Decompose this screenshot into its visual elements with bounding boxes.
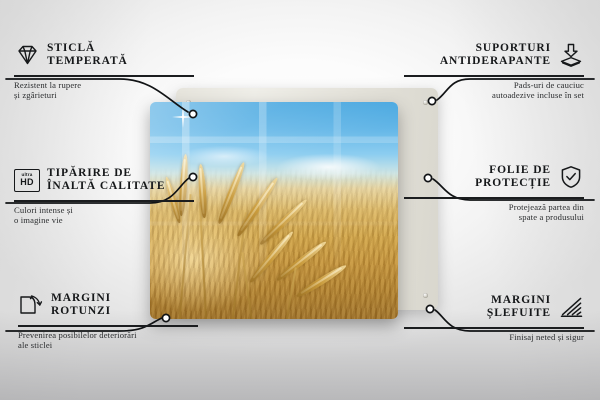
feature-title-line1: STICLĂ	[47, 42, 128, 55]
feature-polished-edges[interactable]: MARGINI ȘLEFUITE Finisaj neted și sigur	[404, 290, 584, 342]
feature-title-line2: ÎNALTĂ CALITATE	[47, 180, 165, 193]
feature-subtitle-line2: ale sticlei	[18, 340, 52, 350]
feature-divider	[14, 75, 194, 77]
feature-subtitle: Protejează partea din spate a produsului	[404, 202, 584, 223]
feature-title-line2: ANTIDERAPANTE	[440, 55, 551, 68]
feature-subtitle: Prevenirea posibilelor deteriorări ale s…	[18, 330, 198, 351]
feature-subtitle-line2: spate a produsului	[519, 212, 584, 222]
feature-anti-slip-supports[interactable]: SUPORTURI ANTIDERAPANTE Pads-uri de cauc…	[404, 38, 584, 101]
feature-subtitle-line1: Rezistent la rupere	[14, 80, 81, 90]
feature-divider	[18, 325, 198, 327]
feature-subtitle: Culori intense și o imagine vie	[14, 205, 194, 226]
feature-subtitle: Rezistent la rupere și zgârieturi	[14, 80, 194, 101]
feature-subtitle-line1: Pads-uri de cauciuc	[514, 80, 584, 90]
feature-title-line1: FOLIE DE	[475, 164, 551, 177]
feature-subtitle-line2: o imagine vie	[14, 215, 63, 225]
feature-title-line1: SUPORTURI	[440, 42, 551, 55]
feature-subtitle-line2: și zgârieturi	[14, 90, 57, 100]
feature-title-line2: ROTUNZI	[51, 305, 111, 318]
feature-title-line2: PROTECȚIE	[475, 177, 551, 190]
feature-title-line2: TEMPERATĂ	[47, 55, 128, 68]
pad-press-icon	[558, 42, 584, 68]
feature-high-quality-print[interactable]: ultra HD TIPĂRIRE DE ÎNALTĂ CALITATE Cul…	[14, 163, 194, 226]
feature-protective-foil[interactable]: FOLIE DE PROTECȚIE Protejează partea din…	[404, 160, 584, 223]
ultra-hd-icon: ultra HD	[14, 167, 40, 193]
feature-title-line1: TIPĂRIRE DE	[47, 167, 165, 180]
feature-tempered-glass[interactable]: STICLĂ TEMPERATĂ Rezistent la rupere și …	[14, 38, 194, 101]
feature-subtitle-line2: autoadezive incluse în set	[492, 90, 584, 100]
feature-subtitle-line1: Prevenirea posibilelor deteriorări	[18, 330, 137, 340]
infographic-canvas: STICLĂ TEMPERATĂ Rezistent la rupere și …	[0, 0, 600, 400]
feature-subtitle-line1: Culori intense și	[14, 205, 73, 215]
feature-title-line2: ȘLEFUITE	[487, 307, 551, 320]
feature-subtitle: Finisaj neted și sigur	[404, 332, 584, 343]
feature-subtitle-line1: Finisaj neted și sigur	[509, 332, 584, 342]
feature-divider	[14, 200, 194, 202]
diamond-icon	[14, 42, 40, 68]
shield-check-icon	[558, 164, 584, 190]
feature-rounded-edges[interactable]: MARGINI ROTUNZI Prevenirea posibilelor d…	[18, 288, 198, 351]
feature-divider	[404, 327, 584, 329]
feature-divider	[404, 197, 584, 199]
rounded-corner-icon	[18, 292, 44, 318]
feature-title-line1: MARGINI	[51, 292, 111, 305]
hatched-triangle-icon	[558, 294, 584, 320]
ultra-hd-icon-large-text: HD	[20, 178, 34, 187]
feature-title-line1: MARGINI	[487, 294, 551, 307]
feature-subtitle-line1: Protejează partea din	[509, 202, 584, 212]
panel-screw	[423, 100, 428, 105]
feature-divider	[404, 75, 584, 77]
feature-subtitle: Pads-uri de cauciuc autoadezive incluse …	[404, 80, 584, 101]
